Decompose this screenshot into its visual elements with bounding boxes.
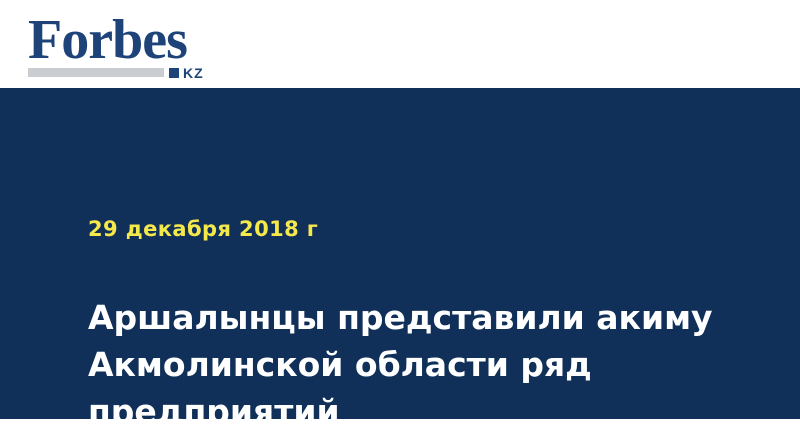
logo-wordmark: Forbes (28, 12, 187, 68)
site-header: Forbes KZ (0, 0, 800, 88)
article-date: 29 декабря 2018 г (88, 216, 318, 242)
article-hero: 29 декабря 2018 г Аршалынцы представили … (0, 88, 800, 419)
forbes-kz-logo[interactable]: Forbes KZ (28, 12, 218, 78)
logo-square-icon (169, 68, 179, 78)
logo-country-suffix: KZ (183, 66, 204, 80)
logo-rule (28, 68, 164, 77)
article-title: Аршалынцы представили акиму Акмолинской … (88, 294, 728, 435)
article-card: Forbes KZ 29 декабря 2018 г Аршалынцы пр… (0, 0, 800, 419)
